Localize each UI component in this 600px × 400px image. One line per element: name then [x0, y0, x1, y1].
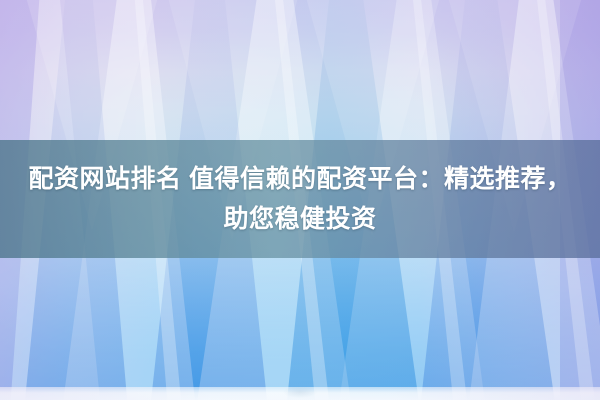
promo-banner: 配资网站排名 值得信赖的配资平台：精选推荐， 助您稳健投资 — [0, 0, 600, 400]
headline-line-2: 助您稳健投资 — [223, 199, 376, 239]
headline-line-1: 配资网站排名 值得信赖的配资平台：精选推荐， — [29, 159, 572, 199]
faint-watermark-icon — [283, 386, 317, 398]
headline: 配资网站排名 值得信赖的配资平台：精选推荐， 助您稳健投资 — [0, 140, 600, 258]
